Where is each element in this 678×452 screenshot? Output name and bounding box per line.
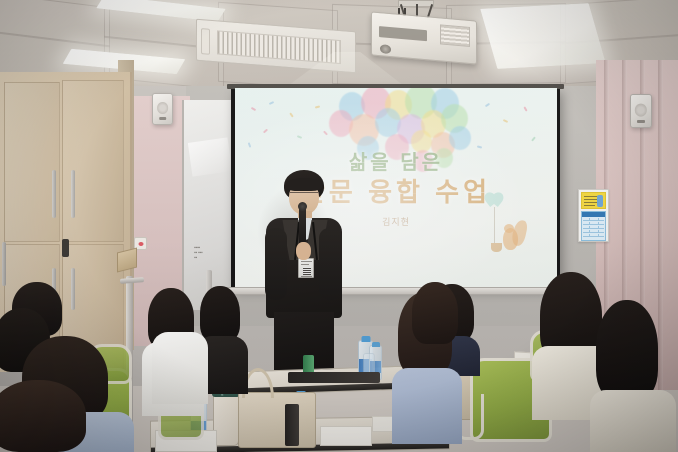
bottle-cap	[372, 342, 380, 347]
wall-slat	[658, 60, 663, 390]
whiteboard-writing: ▪▪▪▪▪▪ ▪▪▪▪▪	[194, 246, 222, 262]
cabinet-handle[interactable]	[2, 242, 6, 286]
cabinet-handle[interactable]	[52, 170, 56, 218]
balloon-string	[494, 207, 495, 243]
speaker-cone	[635, 103, 647, 116]
wall-speaker-right	[630, 94, 652, 128]
dark-thermos	[285, 404, 299, 446]
person-torso	[152, 332, 208, 404]
confetti	[323, 131, 328, 136]
confetti	[503, 119, 508, 123]
badge-qr-code	[303, 267, 311, 275]
presenter	[262, 170, 346, 370]
presenter-fringe	[286, 178, 322, 191]
confetti	[263, 129, 268, 134]
wall-notice-poster	[578, 189, 609, 242]
squirrel-basket	[491, 243, 502, 252]
person-torso	[392, 368, 462, 444]
confetti	[297, 135, 302, 139]
speaker-badge	[159, 117, 167, 120]
confetti	[531, 136, 536, 141]
presenter-arm	[265, 228, 287, 300]
presenter-arm	[319, 228, 342, 300]
vent-grille	[217, 30, 341, 64]
ceiling-projector	[371, 11, 477, 64]
cabinet-lock[interactable]	[62, 239, 69, 257]
confetti	[269, 101, 274, 105]
projector-lens	[380, 44, 391, 54]
presenter-glasses	[290, 192, 318, 198]
speaker-cone	[157, 102, 169, 114]
poster-table	[581, 211, 606, 241]
person-hair	[596, 300, 658, 400]
person-torso	[590, 390, 676, 452]
squirrel-head	[504, 224, 514, 233]
confetti	[485, 103, 490, 108]
classroom-presentation-photo: ▪▪▪▪▪▪ ▪▪▪▪▪	[0, 0, 678, 452]
dark-desk-item	[288, 372, 380, 383]
vent-louver	[201, 28, 210, 55]
presenter-hand	[296, 242, 311, 260]
speaker-badge	[637, 120, 645, 124]
person-hair	[200, 286, 240, 342]
name-badge	[298, 258, 314, 278]
tote-bag	[238, 392, 316, 448]
ceiling-light-panel	[480, 3, 606, 69]
cabinet-door[interactable]	[4, 82, 60, 242]
handout-papers	[320, 426, 372, 446]
person-hair	[0, 380, 86, 452]
confetti	[251, 107, 256, 111]
cabinet-handle[interactable]	[71, 268, 75, 310]
confetti	[289, 112, 294, 117]
projector-vent	[440, 24, 470, 47]
projector-ports	[379, 26, 427, 41]
poster-header	[581, 192, 606, 209]
bottle-cap	[361, 336, 370, 342]
outlet-indicator	[138, 242, 143, 246]
confetti	[315, 105, 320, 108]
microphone-head	[298, 202, 307, 211]
confetti	[523, 106, 527, 111]
person-hair	[412, 282, 458, 344]
whiteboard-reflection	[188, 137, 232, 176]
wall-speaker-left	[152, 93, 173, 125]
cabinet-handle[interactable]	[71, 170, 75, 218]
